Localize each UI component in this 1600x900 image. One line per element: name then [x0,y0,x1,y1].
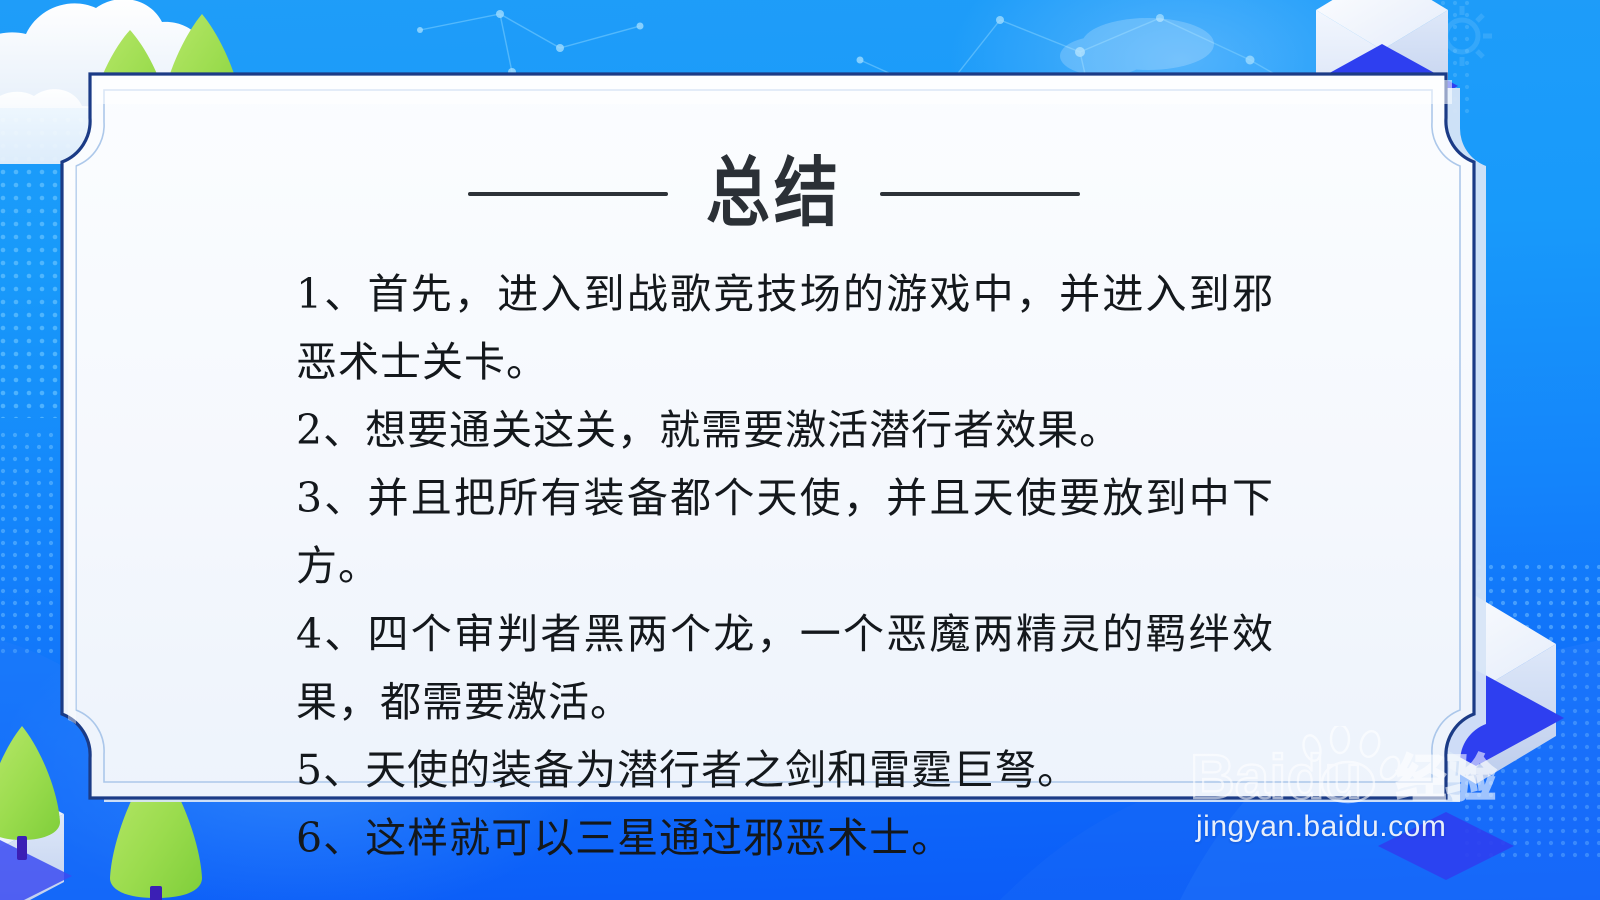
content-card-body: 总结 1、首先，进入到战歌竞技场的游戏中，并进入到邪恶术士关卡。 2、想要通关这… [60,72,1488,812]
list-item: 6、这样就可以三星通过邪恶术士。 [296,804,1274,872]
list-item: 2、想要通关这关，就需要激活潜行者效果。 [296,396,1274,464]
list-item: 3、并且把所有装备都个天使，并且天使要放到中下方。 [296,464,1274,600]
watermark-url: jingyan.baidu.com [1196,810,1446,844]
heading-rule-left [468,192,668,196]
page-title: 总结 [706,156,842,232]
heading-rule-right [880,192,1080,196]
section-heading: 总结 [60,162,1488,226]
list-item: 4、四个审判者黑两个龙，一个恶魔两精灵的羁绊效果，都需要激活。 [296,600,1274,736]
summary-steps-list: 1、首先，进入到战歌竞技场的游戏中，并进入到邪恶术士关卡。 2、想要通关这关，就… [296,260,1274,872]
slide-canvas: 总结 1、首先，进入到战歌竞技场的游戏中，并进入到邪恶术士关卡。 2、想要通关这… [0,0,1600,900]
list-item: 1、首先，进入到战歌竞技场的游戏中，并进入到邪恶术士关卡。 [296,260,1274,396]
list-item: 5、天使的装备为潜行者之剑和雷霆巨弩。 [296,736,1274,804]
